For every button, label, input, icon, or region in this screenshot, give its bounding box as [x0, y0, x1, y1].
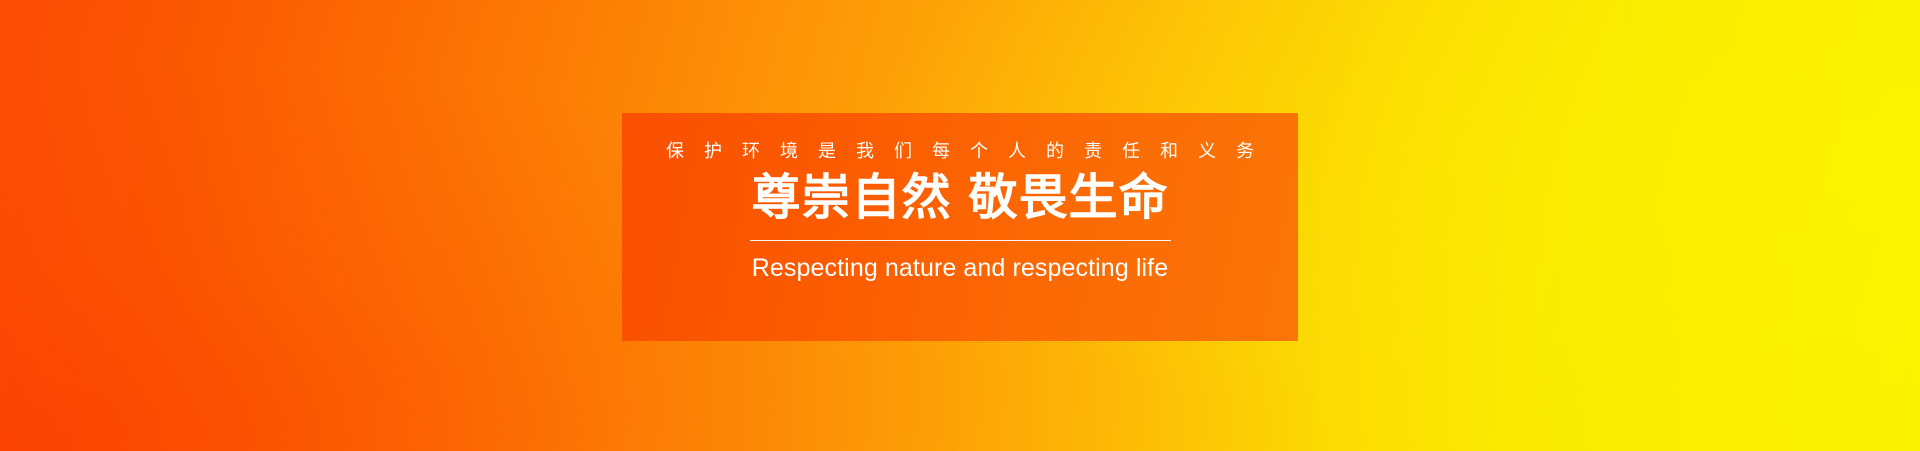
panel-divider	[750, 240, 1171, 241]
headline-part-1: 尊崇自然	[751, 171, 951, 225]
slogan-panel: 保 护 环 境 是 我 们 每 个 人 的 责 任 和 义 务 尊崇自然敬畏生命…	[622, 113, 1298, 341]
environment-banner: 保 护 环 境 是 我 们 每 个 人 的 责 任 和 义 务 尊崇自然敬畏生命…	[0, 0, 1920, 451]
panel-subtitle: 保 护 环 境 是 我 们 每 个 人 的 责 任 和 义 务	[658, 140, 1261, 162]
panel-headline: 尊崇自然敬畏生命	[751, 169, 1168, 227]
panel-tagline: Respecting nature and respecting life	[752, 253, 1168, 283]
headline-part-2: 敬畏生命	[969, 171, 1169, 225]
